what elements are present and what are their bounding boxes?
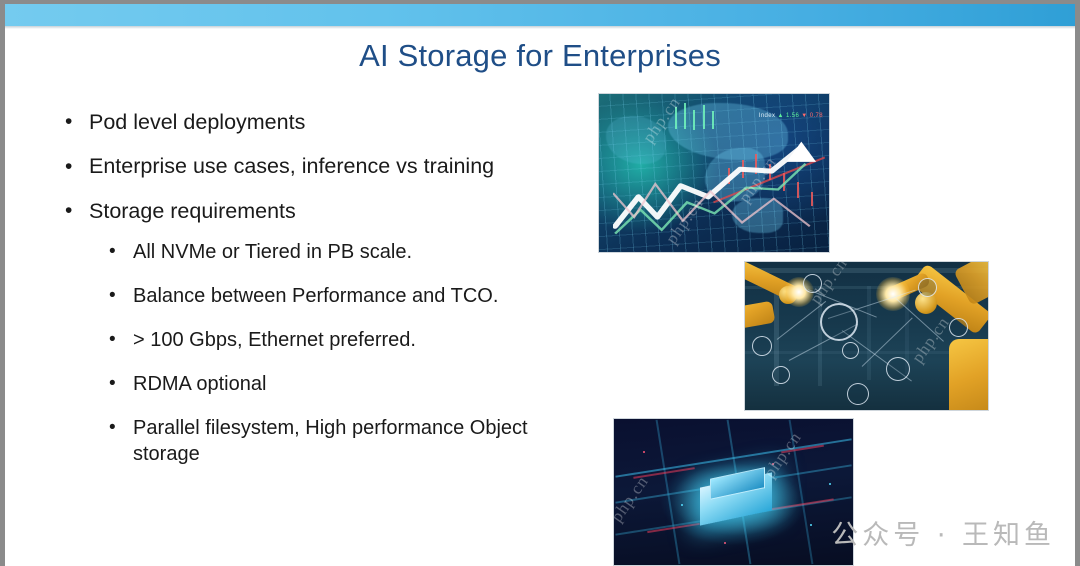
bullet-list-level1: • Pod level deployments • Enterprise use… [51,108,591,467]
market-quote-label: Index ▲ 1.56 ▼ 0.78 [759,113,823,119]
bullet-content: • Pod level deployments • Enterprise use… [51,108,591,483]
market-candle-green [684,103,686,129]
bullet-marker-icon: • [65,108,72,136]
sub-bullet-text: All NVMe or Tiered in PB scale. [133,241,412,263]
bullet-marker-icon: • [109,284,116,309]
bullet-marker-icon: • [109,240,116,265]
bullet-marker-icon: • [109,372,116,397]
market-growth-image: Index ▲ 1.56 ▼ 0.78 php.cn php.cn php.cn [598,93,830,253]
network-node-icon [886,357,910,381]
robot-base-right [949,339,989,411]
bullet-marker-icon: • [65,153,72,181]
market-candle-green [712,111,714,129]
presentation-slide: AI Storage for Enterprises • Pod level d… [0,0,1080,566]
sub-bullet-text: RDMA optional [133,373,266,395]
bullet-list-level2: • All NVMe or Tiered in PB scale. • Bala… [93,239,591,467]
sub-bullet-item: • All NVMe or Tiered in PB scale. [93,239,591,265]
quote-up-value: 1.56 [786,113,799,119]
sub-bullet-text: Balance between Performance and TCO. [133,285,498,307]
industrial-robots-image: php.cn php.cn [744,261,989,411]
bullet-marker-icon: • [109,328,116,353]
sub-bullet-item: • Balance between Performance and TCO. [93,283,591,309]
sub-bullet-text: > 100 Gbps, Ethernet preferred. [133,329,416,351]
bullet-marker-icon: • [65,197,72,225]
robots-image-inner: php.cn php.cn [745,262,988,410]
cpu-chip-image: php.cn php.cn [613,418,854,566]
circuit-led [724,542,726,544]
sub-bullet-item: • RDMA optional [93,371,591,397]
slide-title: AI Storage for Enterprises [5,38,1075,74]
chip-image-inner: php.cn php.cn [614,419,853,565]
bullet-item: • Pod level deployments [51,108,591,136]
market-candle-green [693,110,695,130]
bullet-text: Pod level deployments [89,110,305,134]
channel-watermark: 公众号 · 王知鱼 [831,513,1055,552]
circuit-led [643,451,645,453]
quote-down-arrow-icon: ▼ [801,113,807,119]
sub-bullet-item: • Parallel filesystem, High performance … [93,415,591,467]
network-node-icon [803,274,822,293]
network-node-icon [772,366,790,384]
growth-arrow-icon [613,138,825,239]
market-candle-green [703,105,705,129]
network-node-icon [842,342,859,359]
quote-down-value: 0.78 [810,113,823,119]
quote-index-label: Index [759,113,776,119]
sub-bullet-wrapper: • All NVMe or Tiered in PB scale. • Bala… [93,239,591,467]
market-candle-green [675,107,677,129]
bullet-text: Storage requirements [89,199,296,223]
bullet-item: • Enterprise use cases, inference vs tra… [51,152,591,180]
quote-up-arrow-icon: ▲ [778,113,784,119]
bullet-marker-icon: • [109,416,116,441]
bullet-item: • Storage requirements • All NVMe or Tie… [51,197,591,467]
sub-bullet-item: • > 100 Gbps, Ethernet preferred. [93,327,591,353]
network-node-icon [918,278,937,297]
decorative-top-band [5,4,1075,26]
top-band-shadow [5,26,1075,29]
market-image-inner: Index ▲ 1.56 ▼ 0.78 php.cn php.cn php.cn [599,94,829,252]
sub-bullet-text: Parallel filesystem, High performance Ob… [133,417,528,465]
factory-column [867,286,871,381]
factory-beam [745,268,988,273]
bullet-text: Enterprise use cases, inference vs train… [89,154,494,178]
factory-column [818,286,822,387]
